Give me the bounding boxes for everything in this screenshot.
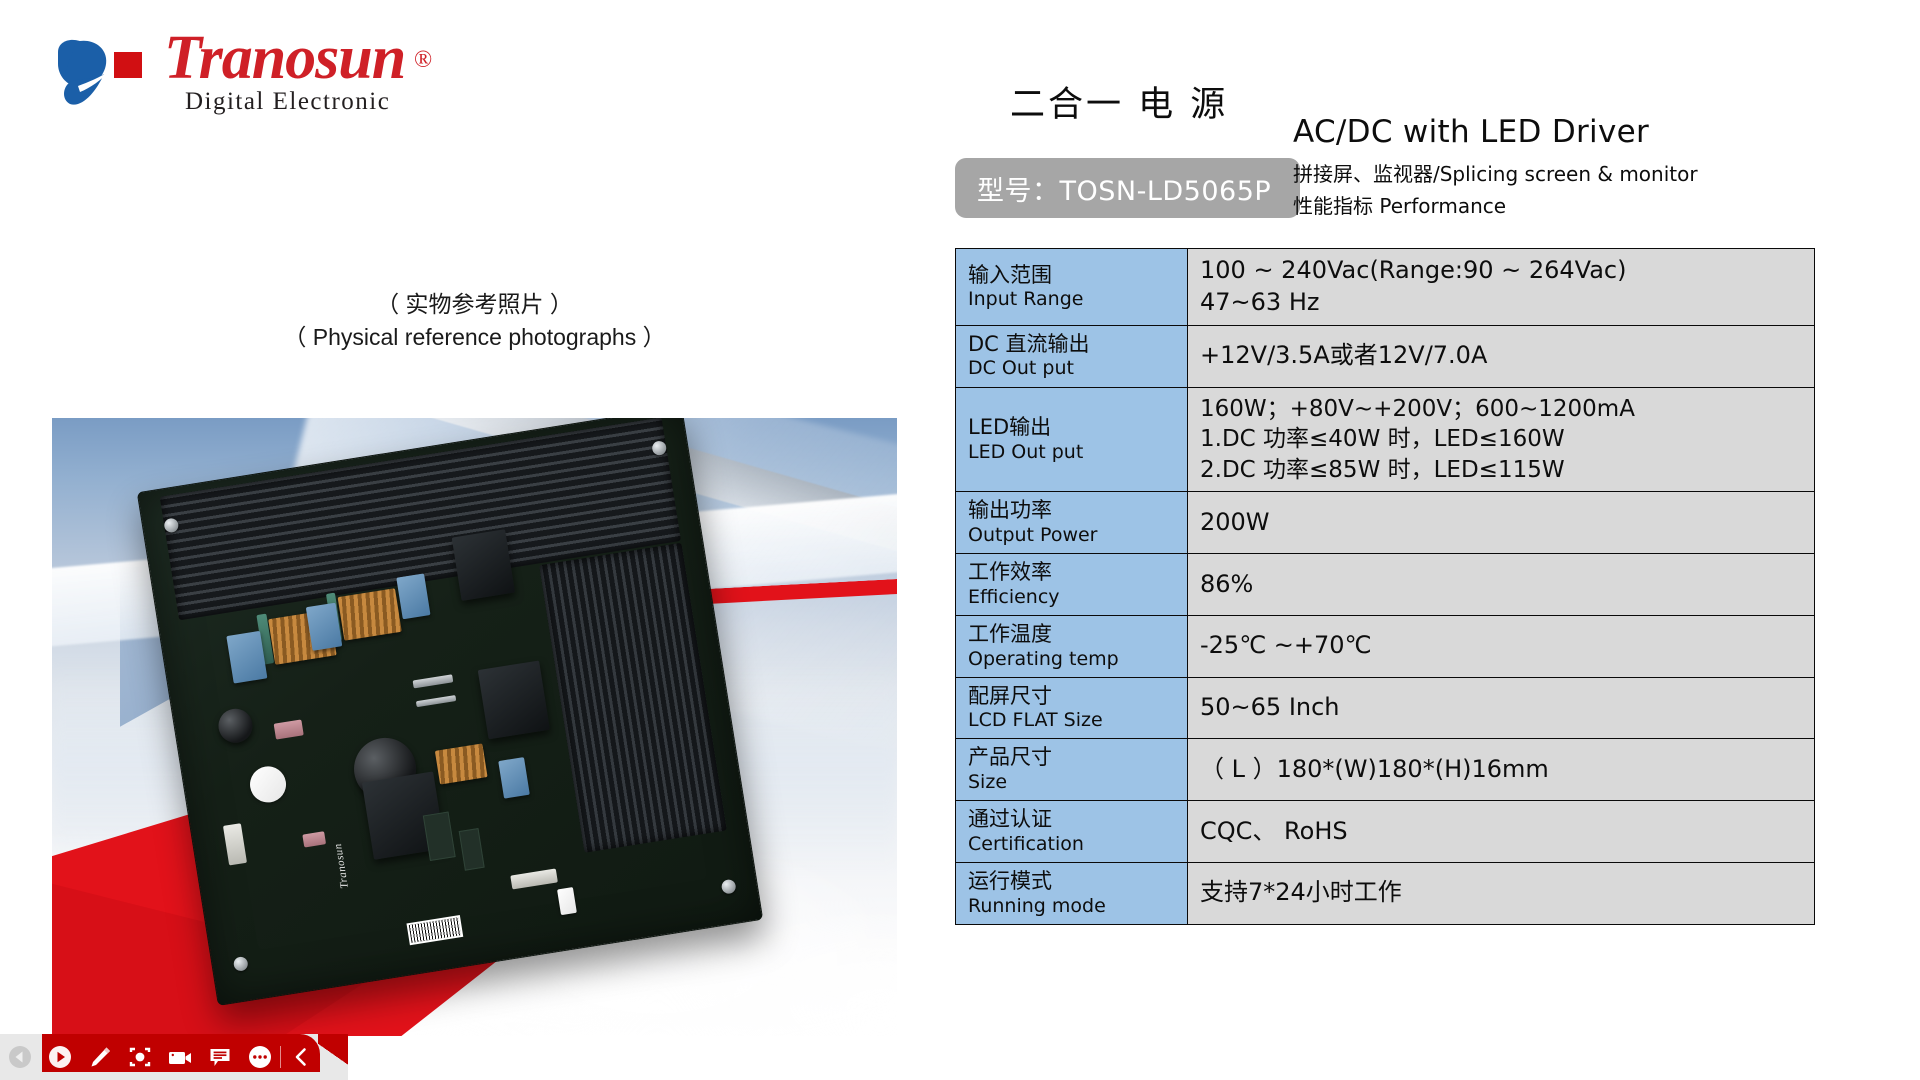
application-subtitle: 拼接屏、监视器/Splicing screen & monitor bbox=[1293, 158, 1698, 187]
spec-label-cn: 配屏尺寸 bbox=[968, 684, 1175, 710]
previous-slide-button[interactable] bbox=[0, 1034, 40, 1080]
spec-label-en: LED Out put bbox=[968, 441, 1175, 464]
table-row: LED输出LED Out put160W；+80V~+200V；600~1200… bbox=[956, 387, 1815, 492]
collapse-toolbar-button[interactable] bbox=[281, 1034, 321, 1080]
spec-label-cell: 产品尺寸Size bbox=[956, 739, 1188, 801]
spec-label-en: Running mode bbox=[968, 895, 1175, 918]
spec-label-en: Output Power bbox=[968, 524, 1175, 547]
video-record-button[interactable] bbox=[160, 1034, 200, 1080]
photo-caption: （ 实物参考照片 ） （ Physical reference photogra… bbox=[52, 288, 897, 353]
photo-caption-cn: （ 实物参考照片 ） bbox=[52, 288, 897, 321]
slide-canvas: Tranosun ® Digital Electronic （ 实物参考照片 ）… bbox=[0, 0, 1920, 1080]
spec-value-cell: +12V/3.5A或者12V/7.0A bbox=[1188, 325, 1815, 387]
photo-caption-en: （ Physical reference photographs ） bbox=[52, 321, 897, 354]
spec-label-cn: LED输出 bbox=[968, 415, 1175, 441]
spec-value-line: +12V/3.5A或者12V/7.0A bbox=[1200, 340, 1802, 372]
spec-value-cell: 160W；+80V~+200V；600~1200mA1.DC 功率≤40W 时，… bbox=[1188, 387, 1815, 492]
spec-value-line: 2.DC 功率≤85W 时，LED≤115W bbox=[1200, 455, 1802, 486]
table-row: 输出功率Output Power200W bbox=[956, 492, 1815, 554]
spec-label-cn: 输入范围 bbox=[968, 263, 1175, 289]
table-row: 配屏尺寸LCD FLAT Size50~65 Inch bbox=[956, 677, 1815, 739]
spec-value-line: （ L ）180*(W)180*(H)16mm bbox=[1200, 754, 1802, 786]
spec-label-en: Efficiency bbox=[968, 586, 1175, 609]
spec-value-cell: （ L ）180*(W)180*(H)16mm bbox=[1188, 739, 1815, 801]
table-row: DC 直流输出DC Out put+12V/3.5A或者12V/7.0A bbox=[956, 325, 1815, 387]
spec-label-cell: 配屏尺寸LCD FLAT Size bbox=[956, 677, 1188, 739]
spec-value-line: 200W bbox=[1200, 507, 1802, 539]
spec-label-cn: 工作温度 bbox=[968, 622, 1175, 648]
spec-label-cn: 通过认证 bbox=[968, 807, 1175, 833]
ellipsis-circle-icon bbox=[247, 1044, 273, 1070]
brand-name: Tranosun bbox=[164, 24, 405, 92]
performance-subtitle: 性能指标 Performance bbox=[1293, 190, 1506, 219]
spec-label-en: LCD FLAT Size bbox=[968, 709, 1175, 732]
pcb-board: Tranosun bbox=[137, 418, 764, 1006]
spec-label-cell: LED输出LED Out put bbox=[956, 387, 1188, 492]
spec-label-cn: 输出功率 bbox=[968, 498, 1175, 524]
table-row: 通过认证CertificationCQC、 RoHS bbox=[956, 801, 1815, 863]
video-camera-icon bbox=[166, 1044, 194, 1070]
product-title-cn: 二合一 电 源 bbox=[1010, 76, 1228, 127]
spec-value-cell: 200W bbox=[1188, 492, 1815, 554]
spec-value-line: 100 ~ 240Vac(Range:90 ~ 264Vac) bbox=[1200, 255, 1802, 287]
spec-label-en: DC Out put bbox=[968, 357, 1175, 380]
spec-label-cell: 运行模式Running mode bbox=[956, 863, 1188, 925]
spec-value-line: 支持7*24小时工作 bbox=[1200, 877, 1802, 909]
transformer-1 bbox=[451, 529, 514, 601]
spec-label-cn: DC 直流输出 bbox=[968, 332, 1175, 358]
spec-value-cell: -25℃ ~+70℃ bbox=[1188, 615, 1815, 677]
spec-value-cell: 86% bbox=[1188, 554, 1815, 616]
model-number-text: 型号：TOSN-LD5065P bbox=[977, 169, 1271, 208]
toolbar-corner-accent bbox=[318, 1034, 348, 1072]
spec-label-cell: DC 直流输出DC Out put bbox=[956, 325, 1188, 387]
spec-value-line: 50~65 Inch bbox=[1200, 692, 1802, 724]
spec-label-cell: 输入范围Input Range bbox=[956, 249, 1188, 326]
table-row: 运行模式Running mode支持7*24小时工作 bbox=[956, 863, 1815, 925]
laser-pointer-button[interactable] bbox=[120, 1034, 160, 1080]
spec-value-cell: 100 ~ 240Vac(Range:90 ~ 264Vac)47~63 Hz bbox=[1188, 249, 1815, 326]
table-row: 工作效率Efficiency86% bbox=[956, 554, 1815, 616]
table-row: 工作温度Operating temp-25℃ ~+70℃ bbox=[956, 615, 1815, 677]
slideshow-toolbar bbox=[0, 1034, 348, 1080]
tranosun-bird-logo-icon bbox=[52, 34, 152, 114]
spec-value-cell: CQC、 RoHS bbox=[1188, 801, 1815, 863]
spec-value-line: CQC、 RoHS bbox=[1200, 816, 1802, 848]
transformer-2 bbox=[478, 660, 550, 739]
spec-value-line: 47~63 Hz bbox=[1200, 287, 1802, 319]
spec-label-cell: 工作效率Efficiency bbox=[956, 554, 1188, 616]
spec-label-en: Input Range bbox=[968, 288, 1175, 311]
more-options-button[interactable] bbox=[240, 1034, 280, 1080]
spec-value-line: 160W；+80V~+200V；600~1200mA bbox=[1200, 394, 1802, 425]
spec-value-line: 1.DC 功率≤40W 时，LED≤160W bbox=[1200, 424, 1802, 455]
triangle-left-icon bbox=[8, 1045, 32, 1069]
spec-label-cell: 工作温度Operating temp bbox=[956, 615, 1188, 677]
pen-annotate-button[interactable] bbox=[80, 1034, 120, 1080]
table-row: 产品尺寸Size（ L ）180*(W)180*(H)16mm bbox=[956, 739, 1815, 801]
table-row: 输入范围Input Range100 ~ 240Vac(Range:90 ~ 2… bbox=[956, 249, 1815, 326]
pen-icon bbox=[87, 1044, 113, 1070]
spec-label-cn: 运行模式 bbox=[968, 869, 1175, 895]
spec-value-line: 86% bbox=[1200, 569, 1802, 601]
focus-target-icon bbox=[127, 1044, 153, 1070]
product-title-en: AC/DC with LED Driver bbox=[1293, 114, 1649, 150]
spec-label-en: Operating temp bbox=[968, 648, 1175, 671]
spec-label-cell: 输出功率Output Power bbox=[956, 492, 1188, 554]
spec-label-cell: 通过认证Certification bbox=[956, 801, 1188, 863]
model-number-badge: 型号：TOSN-LD5065P bbox=[955, 158, 1300, 218]
play-circle-icon bbox=[48, 1045, 72, 1069]
spec-label-en: Size bbox=[968, 771, 1175, 794]
spec-label-cn: 工作效率 bbox=[968, 560, 1175, 586]
spec-value-cell: 支持7*24小时工作 bbox=[1188, 863, 1815, 925]
specification-table: 输入范围Input Range100 ~ 240Vac(Range:90 ~ 2… bbox=[955, 248, 1815, 925]
brand-wordmark: Tranosun ® Digital Electronic bbox=[164, 24, 405, 116]
comments-button[interactable] bbox=[200, 1034, 240, 1080]
brand-logo: Tranosun ® Digital Electronic bbox=[52, 26, 572, 131]
product-photo: Tranosun bbox=[52, 418, 897, 1036]
registered-trademark-icon: ® bbox=[414, 26, 431, 94]
chevron-left-icon bbox=[289, 1045, 313, 1069]
spec-value-line: -25℃ ~+70℃ bbox=[1200, 630, 1802, 662]
play-slideshow-button[interactable] bbox=[40, 1034, 80, 1080]
brand-tagline: Digital Electronic bbox=[164, 88, 405, 116]
speech-bubble-icon bbox=[207, 1044, 233, 1070]
spec-value-cell: 50~65 Inch bbox=[1188, 677, 1815, 739]
toroid-coil-2 bbox=[338, 588, 402, 641]
spec-label-cn: 产品尺寸 bbox=[968, 745, 1175, 771]
spec-label-en: Certification bbox=[968, 833, 1175, 856]
